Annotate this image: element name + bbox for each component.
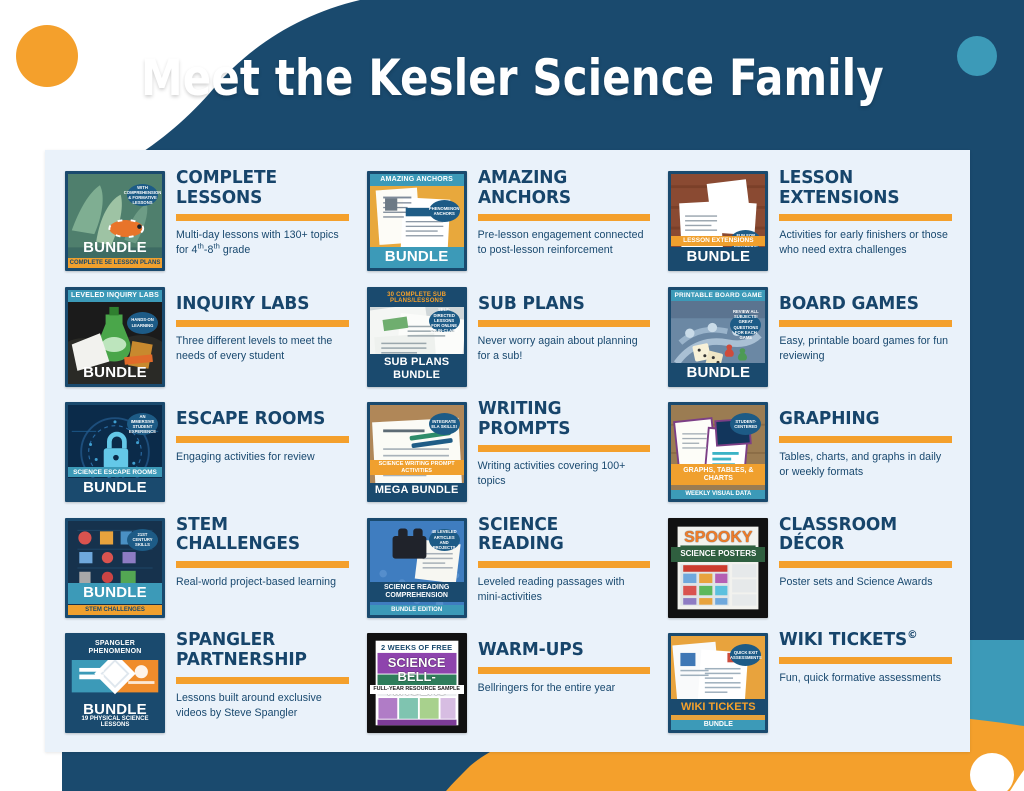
orange-divider xyxy=(478,561,651,568)
product-description: Bellringers for the entire year xyxy=(478,681,651,696)
thumbnail-bundle-label: BUNDLE xyxy=(671,363,765,384)
product-title: INQUIRY LABS xyxy=(176,295,343,315)
thumbnail-subbar: STEM Challenges xyxy=(68,605,162,615)
orange-divider xyxy=(779,214,952,221)
product-text: SPANGLER PARTNERSHIP Lessons built aroun… xyxy=(165,629,349,720)
thumbnail-inquiry-labs[interactable]: Leveled Inquiry Labs Hands-On Learning B… xyxy=(65,287,165,387)
product-item-amazing-anchors[interactable]: Amazing Anchors Phenomenon Anchors BUNDL… xyxy=(359,164,657,280)
thumbnail-wrap: 30 Complete Sub Plans/Lessons Self-direc… xyxy=(367,287,467,387)
thumbnail-wrap: 21st Century Skills BUNDLE STEM Challeng… xyxy=(65,518,165,618)
orange-divider xyxy=(176,320,349,327)
thumbnail-science-reading[interactable]: 40 Leveled Articles and Projects SCIENCE… xyxy=(367,518,467,618)
product-title: CLASSROOM DÉCOR xyxy=(779,516,946,555)
thumbnail-subbar: FULL-YEAR RESOURCE SAMPLE xyxy=(370,685,464,694)
product-text: STEM CHALLENGES Real-world project-based… xyxy=(165,514,349,590)
thumbnail-subbar: BUNDLE xyxy=(671,720,765,731)
thumbnail-graphing[interactable]: Student-Centered GRAPHS, TABLES, & CHART… xyxy=(668,402,768,502)
thumbnail-subbar: Bundle Edition xyxy=(370,605,464,615)
orange-divider xyxy=(478,445,651,452)
thumbnail-wrap: Student-Centered GRAPHS, TABLES, & CHART… xyxy=(668,402,768,502)
thumbnail-top-label: Spangler Phenomenon xyxy=(68,636,162,660)
product-description: Activities for early finishers or those … xyxy=(779,228,952,258)
thumbnail-board-games[interactable]: Printable Board Game Review All Subjects… xyxy=(668,287,768,387)
product-grid: With Comprehension & Formative Lessons B… xyxy=(45,150,970,752)
thumbnail-subbar: 19 Physical Science Lessons xyxy=(68,714,162,730)
product-item-warm-ups[interactable]: 2 WEEKS OF FREE SCIENCE BELL-RINGERS FUL… xyxy=(359,626,657,742)
product-item-stem-challenges[interactable]: 21st Century Skills BUNDLE STEM Challeng… xyxy=(57,511,355,627)
product-title: STEM CHALLENGES xyxy=(176,516,343,555)
thumbnail-band: Lesson Extensions xyxy=(671,236,765,246)
thumbnail-wrap: 2 WEEKS OF FREE SCIENCE BELL-RINGERS FUL… xyxy=(367,633,467,733)
content-panel: With Comprehension & Formative Lessons B… xyxy=(45,150,970,752)
thumbnail-band: WIKI TICKETS xyxy=(671,699,765,715)
thumbnail-badge: Phenomenon Anchors xyxy=(429,200,460,222)
thumbnail-bundle-label: SUB PLANS BUNDLE xyxy=(370,354,464,383)
product-description: Lessons built around exclusive videos by… xyxy=(176,691,349,721)
thumbnail-warm-ups[interactable]: 2 WEEKS OF FREE SCIENCE BELL-RINGERS FUL… xyxy=(367,633,467,733)
thumbnail-badge: An Immersive Student Experience xyxy=(127,413,158,435)
product-description: Never worry again about planning for a s… xyxy=(478,334,651,364)
poster-canvas: Meet the Kesler Science Family xyxy=(0,0,1024,791)
product-description: Multi-day lessons with 130+ topics for 4… xyxy=(176,228,349,258)
thumbnail-badge: 21st Century Skills xyxy=(127,529,158,551)
thumbnail-wrap: 40 Leveled Articles and Projects SCIENCE… xyxy=(367,518,467,618)
thumbnail-wrap: SPOOKY SCIENCE POSTERS xyxy=(668,518,768,618)
product-item-inquiry-labs[interactable]: Leveled Inquiry Labs Hands-On Learning B… xyxy=(57,280,355,396)
thumbnail-complete-lessons[interactable]: With Comprehension & Formative Lessons B… xyxy=(65,171,165,271)
product-text: WRITING PROMPTS Writing activities cover… xyxy=(467,398,651,489)
thumbnail-spangler-partnership[interactable]: Spangler Phenomenon BUNDLE 19 Physical S… xyxy=(65,633,165,733)
thumbnail-bundle-label: MEGA BUNDLE xyxy=(370,483,464,500)
product-item-wiki-tickets[interactable]: Quick Exit Assessments WIKI TICKETS BUND… xyxy=(660,626,958,742)
product-title: GRAPHING xyxy=(779,410,946,430)
orange-divider xyxy=(779,561,952,568)
thumbnail-amazing-anchors[interactable]: Amazing Anchors Phenomenon Anchors BUNDL… xyxy=(367,171,467,271)
product-description: Poster sets and Science Awards xyxy=(779,575,952,590)
product-title: ESCAPE ROOMS xyxy=(176,410,343,430)
product-text: LESSON EXTENSIONS Activities for early f… xyxy=(768,167,952,258)
product-text: ESCAPE ROOMS Engaging activities for rev… xyxy=(165,398,349,465)
product-title: WARM-UPS xyxy=(478,641,645,661)
product-text: WIKI TICKETS© Fun, quick formative asses… xyxy=(768,629,952,686)
thumbnail-badge: 40 Leveled Articles and Projects xyxy=(429,529,460,551)
product-description: Writing activities covering 100+ topics xyxy=(478,459,651,489)
product-title: AMAZING ANCHORS xyxy=(478,169,645,208)
product-text: WARM-UPS Bellringers for the entire year xyxy=(467,629,651,696)
orange-divider xyxy=(176,436,349,443)
thumbnail-bundle-label: BUNDLE xyxy=(68,478,162,499)
product-text: INQUIRY LABS Three different levels to m… xyxy=(165,283,349,365)
product-description: Easy, printable board games for fun revi… xyxy=(779,334,952,364)
thumbnail-top-label: Leveled Inquiry Labs xyxy=(68,290,162,302)
product-title: BOARD GAMES xyxy=(779,295,946,315)
product-description: Pre-lesson engagement connected to post-… xyxy=(478,228,651,258)
product-item-lesson-extensions[interactable]: Fun for Early Finishers! Lesson Extensio… xyxy=(660,164,958,280)
thumbnail-wrap: Leveled Inquiry Labs Hands-On Learning B… xyxy=(65,287,165,387)
orange-divider xyxy=(779,657,952,664)
thumbnail-top-label: Printable Board Game xyxy=(671,290,765,301)
product-item-spangler-partnership[interactable]: Spangler Phenomenon BUNDLE 19 Physical S… xyxy=(57,626,355,742)
thumbnail-wrap: An Immersive Student Experience Science … xyxy=(65,402,165,502)
product-text: CLASSROOM DÉCOR Poster sets and Science … xyxy=(768,514,952,590)
product-item-science-reading[interactable]: 40 Leveled Articles and Projects SCIENCE… xyxy=(359,511,657,627)
thumbnail-badge: Hands-On Learning xyxy=(127,312,158,334)
orange-divider xyxy=(478,667,651,674)
product-description: Tables, charts, and graphs in daily or w… xyxy=(779,450,952,480)
orange-divider xyxy=(478,320,651,327)
thumbnail-wrap: Integrate ELA Skills! Science Writing Pr… xyxy=(367,402,467,502)
product-text: SCIENCE READING Leveled reading passages… xyxy=(467,514,651,605)
orange-divider xyxy=(779,320,952,327)
thumbnail-band: SCIENCE READING COMPREHENSION xyxy=(370,582,464,601)
product-title: SUB PLANS xyxy=(478,295,645,315)
thumbnail-wrap: Printable Board Game Review All Subjects… xyxy=(668,287,768,387)
thumbnail-bundle-label: BUNDLE xyxy=(671,247,765,268)
thumbnail-subbar: Weekly Visual Data xyxy=(671,490,765,500)
thumbnail-badge: Self-directed Lessons for Online or In-C… xyxy=(429,310,460,332)
product-item-sub-plans[interactable]: 30 Complete Sub Plans/Lessons Self-direc… xyxy=(359,280,657,396)
thumbnail-top-label: 30 Complete Sub Plans/Lessons xyxy=(370,290,464,308)
thumbnail-wrap: Quick Exit Assessments WIKI TICKETS BUND… xyxy=(668,633,768,733)
product-description: Fun, quick formative assessments xyxy=(779,671,952,686)
product-title: WRITING PROMPTS xyxy=(478,400,645,439)
product-item-writing-prompts[interactable]: Integrate ELA Skills! Science Writing Pr… xyxy=(359,395,657,511)
thumbnail-band: SCIENCE POSTERS xyxy=(671,547,765,562)
orange-divider xyxy=(779,436,952,443)
orange-divider xyxy=(176,677,349,684)
product-text: SUB PLANS Never worry again about planni… xyxy=(467,283,651,365)
orange-divider xyxy=(176,214,349,221)
thumbnail-sub-plans[interactable]: 30 Complete Sub Plans/Lessons Self-direc… xyxy=(367,287,467,387)
product-description: Three different levels to meet the needs… xyxy=(176,334,349,364)
product-title: SCIENCE READING xyxy=(478,516,645,555)
thumbnail-bundle-label: BUNDLE xyxy=(370,247,464,268)
product-item-escape-rooms[interactable]: An Immersive Student Experience Science … xyxy=(57,395,355,511)
orange-divider xyxy=(176,561,349,568)
thumbnail-classroom-decor[interactable]: SPOOKY SCIENCE POSTERS xyxy=(668,518,768,618)
product-title: LESSON EXTENSIONS xyxy=(779,169,946,208)
thumbnail-wrap: With Comprehension & Formative Lessons B… xyxy=(65,171,165,271)
thumbnail-bundle-label: BUNDLE xyxy=(68,238,162,259)
product-item-board-games[interactable]: Printable Board Game Review All Subjects… xyxy=(660,280,958,396)
page-title: Meet the Kesler Science Family xyxy=(141,49,884,107)
product-item-complete-lessons[interactable]: With Comprehension & Formative Lessons B… xyxy=(57,164,355,280)
orange-divider xyxy=(478,214,651,221)
thumbnail-band: GRAPHS, TABLES, & CHARTS xyxy=(671,464,765,485)
thumbnail-wrap: Fun for Early Finishers! Lesson Extensio… xyxy=(668,171,768,271)
thumbnail-stem-challenges[interactable]: 21st Century Skills BUNDLE STEM Challeng… xyxy=(65,518,165,618)
product-item-classroom-decor[interactable]: SPOOKY SCIENCE POSTERS CLASSROOM DÉCOR P… xyxy=(660,511,958,627)
thumbnail-escape-rooms[interactable]: An Immersive Student Experience Science … xyxy=(65,402,165,502)
thumbnail-badge: Integrate ELA Skills! xyxy=(429,413,460,435)
product-title: WIKI TICKETS© xyxy=(779,631,946,651)
thumbnail-writing-prompts[interactable]: Integrate ELA Skills! Science Writing Pr… xyxy=(367,402,467,502)
product-text: COMPLETE LESSONS Multi-day lessons with … xyxy=(165,167,349,258)
thumbnail-band: Science Escape Rooms xyxy=(68,467,162,477)
product-title: COMPLETE LESSONS xyxy=(176,169,343,208)
product-description: Real-world project-based learning xyxy=(176,575,349,590)
thumbnail-subbar: Complete 5E Lesson Plans xyxy=(68,258,162,268)
thumbnail-wiki-tickets[interactable]: Quick Exit Assessments WIKI TICKETS BUND… xyxy=(668,633,768,733)
thumbnail-wrap: Spangler Phenomenon BUNDLE 19 Physical S… xyxy=(65,633,165,733)
product-text: AMAZING ANCHORS Pre-lesson engagement co… xyxy=(467,167,651,258)
thumbnail-lesson-extensions[interactable]: Fun for Early Finishers! Lesson Extensio… xyxy=(668,171,768,271)
product-description: Leveled reading passages with mini-activ… xyxy=(478,575,651,605)
thumbnail-badge: With Comprehension & Formative Lessons xyxy=(127,184,158,206)
product-description: Engaging activities for review xyxy=(176,450,349,465)
thumbnail-badge: Review All Subjects! Great Questions for… xyxy=(730,314,761,336)
product-title: SPANGLER PARTNERSHIP xyxy=(176,631,343,670)
product-text: GRAPHING Tables, charts, and graphs in d… xyxy=(768,398,952,480)
thumbnail-top-label: Amazing Anchors xyxy=(370,174,464,186)
thumbnail-band: Science Writing Prompt Activities xyxy=(370,460,464,475)
thumbnail-top-label: 2 WEEKS OF FREE xyxy=(370,642,464,655)
product-item-graphing[interactable]: Student-Centered GRAPHS, TABLES, & CHART… xyxy=(660,395,958,511)
thumbnail-bundle-label: BUNDLE xyxy=(68,363,162,384)
poster-header: Meet the Kesler Science Family xyxy=(0,32,1024,124)
thumbnail-bundle-label: BUNDLE xyxy=(68,583,162,604)
thumbnail-wrap: Amazing Anchors Phenomenon Anchors BUNDL… xyxy=(367,171,467,271)
product-text: BOARD GAMES Easy, printable board games … xyxy=(768,283,952,365)
